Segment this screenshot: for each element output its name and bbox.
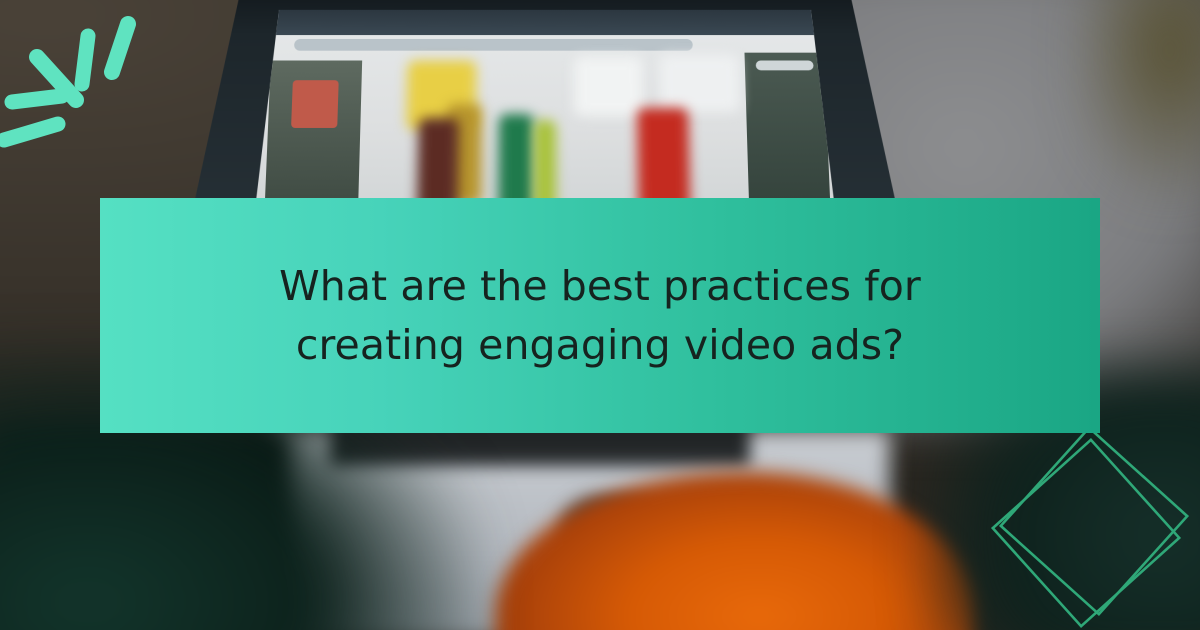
browser-url-bar: [294, 39, 693, 51]
background-olive-patch: [1080, 0, 1200, 200]
webpage-block: [573, 57, 642, 116]
laptop-screen: [253, 10, 838, 230]
webpage-left-thumb: [291, 80, 339, 128]
page-title: What are the best practices for creating…: [260, 257, 940, 373]
webpage-block: [659, 55, 740, 112]
browser-chrome: [261, 10, 829, 35]
social-card: What are the best practices for creating…: [0, 0, 1200, 630]
headline-banner: What are the best practices for creating…: [100, 198, 1100, 433]
rotated-squares-icon: [990, 415, 1200, 630]
sparkle-burst-icon: [0, 0, 175, 165]
laptop: [188, 0, 901, 230]
webpage-right-bar: [756, 61, 813, 71]
webpage-right-panel: [744, 53, 831, 214]
